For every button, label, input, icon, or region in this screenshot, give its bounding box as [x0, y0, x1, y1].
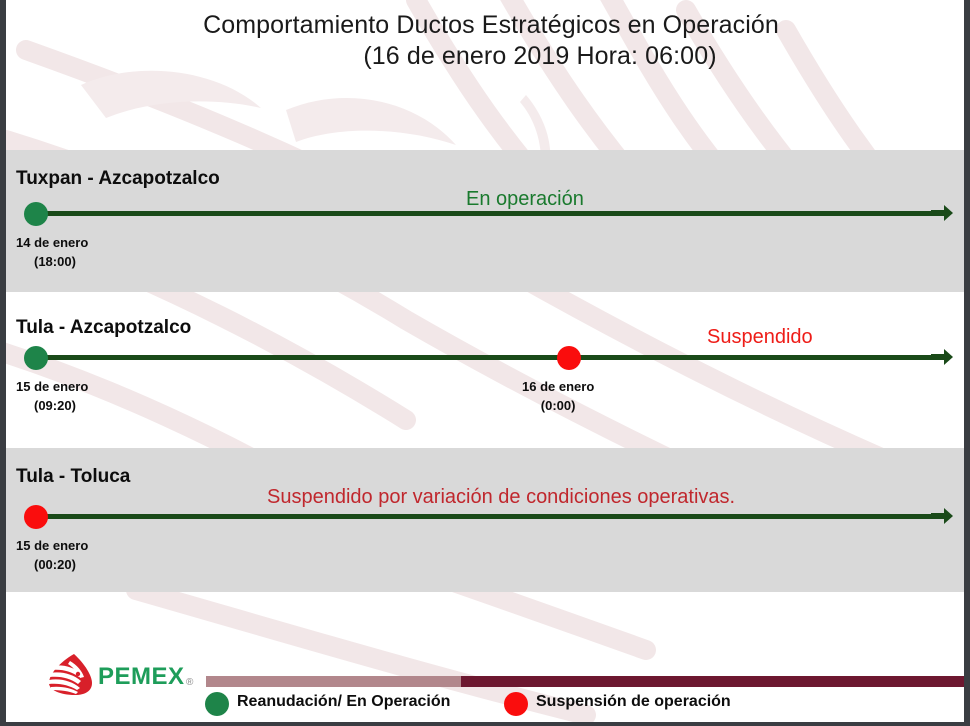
marker-suspension-dot — [557, 346, 581, 370]
pipeline-name: Tula - Azcapotzalco — [16, 317, 191, 339]
footer-bar-dark — [461, 676, 964, 687]
status-label: Suspendido por variación de condiciones … — [267, 486, 735, 509]
pipeline-name: Tuxpan - Azcapotzalco — [16, 168, 220, 190]
marker-time: (00:20) — [16, 555, 88, 574]
arrow-right-icon — [931, 347, 953, 367]
marker-timestamp: 15 de enero (09:20) — [16, 377, 88, 415]
timeline-axis — [36, 355, 934, 360]
marker-date: 16 de enero — [522, 379, 594, 394]
marker-timestamp: 14 de enero (18:00) — [16, 233, 88, 271]
frame-edge-bottom — [0, 722, 970, 726]
frame-edge-right — [964, 0, 970, 726]
pemex-logo: PEMEX ® — [44, 652, 204, 696]
legend-label-suspension: Suspensión de operación — [536, 693, 731, 711]
timeline-row-tula-toluca: Tula - Toluca Suspendido por variación d… — [6, 448, 964, 592]
legend-dot-suspension — [504, 692, 528, 716]
arrow-right-icon — [931, 203, 953, 223]
marker-time: (18:00) — [16, 252, 88, 271]
arrow-right-icon — [931, 506, 953, 526]
marker-timestamp: 15 de enero (00:20) — [16, 536, 88, 574]
marker-resumption-dot — [24, 202, 48, 226]
slide-canvas: Comportamiento Ductos Estratégicos en Op… — [6, 0, 964, 722]
marker-timestamp: 16 de enero (0:00) — [522, 377, 594, 415]
page-title: Comportamiento Ductos Estratégicos en Op… — [6, 10, 964, 72]
pipeline-name: Tula - Toluca — [16, 466, 130, 488]
status-label: En operación — [466, 188, 584, 211]
marker-date: 15 de enero — [16, 538, 88, 553]
frame-edge-left — [0, 0, 6, 726]
marker-resumption-dot — [24, 346, 48, 370]
legend-label-resumption: Reanudación/ En Operación — [237, 693, 450, 711]
timeline-row-tula-azcapotzalco: Tula - Azcapotzalco Suspendido 15 de ene… — [6, 299, 964, 441]
status-label: Suspendido — [707, 326, 813, 349]
svg-text:®: ® — [186, 677, 194, 688]
marker-time: (09:20) — [16, 396, 88, 415]
timeline-axis — [36, 514, 934, 519]
title-line-1: Comportamiento Ductos Estratégicos en Op… — [6, 10, 946, 41]
timeline-row-tuxpan-azcapotzalco: Tuxpan - Azcapotzalco En operación 14 de… — [6, 150, 964, 292]
timeline-axis — [36, 211, 934, 216]
svg-text:PEMEX: PEMEX — [98, 663, 185, 690]
legend-dot-resumption — [205, 692, 229, 716]
marker-date: 15 de enero — [16, 379, 88, 394]
title-line-2: (16 de enero 2019 Hora: 06:00) — [6, 41, 946, 72]
marker-time: (0:00) — [522, 396, 594, 415]
footer-bar-light — [206, 676, 461, 687]
marker-suspension-dot — [24, 505, 48, 529]
marker-date: 14 de enero — [16, 235, 88, 250]
